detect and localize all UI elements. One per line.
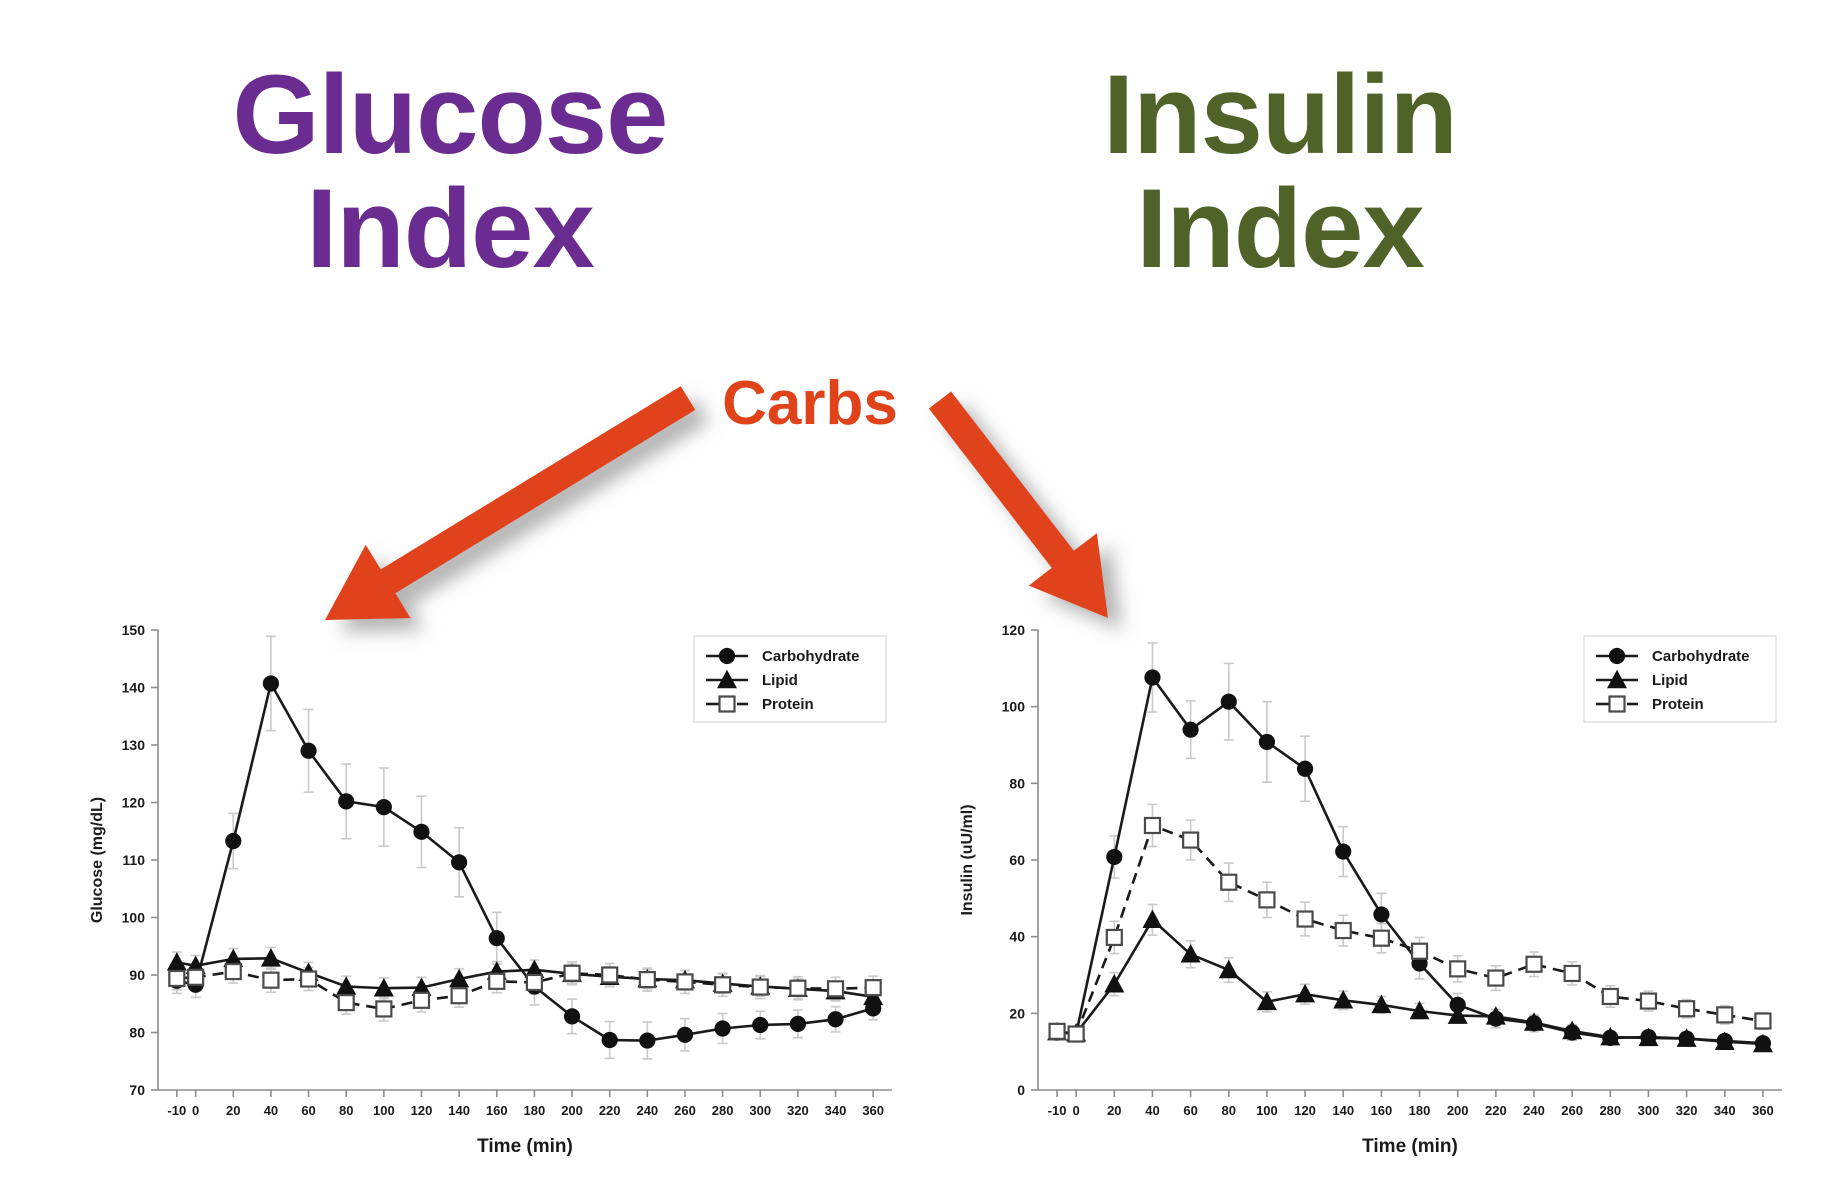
data-point-square [1527,957,1542,972]
data-point-square [226,964,241,979]
x-tick-label: 180 [524,1103,546,1118]
data-point-square [1259,892,1274,907]
data-point-square [1336,923,1351,938]
glucose-chart: 708090100110120130140150Glucose (mg/dL)-… [80,620,910,1180]
y-tick-label: 90 [129,967,145,983]
data-point-square [1641,994,1656,1009]
x-axis-title: Time (min) [1362,1136,1458,1157]
x-tick-label: 200 [561,1103,583,1118]
data-point-square [527,975,542,990]
y-axis-title: Glucose (mg/dL) [89,797,106,923]
carbs-arrow-left [325,386,695,620]
data-point-circle [1610,649,1625,664]
chart-legend: CarbohydrateLipidProtein [1584,636,1776,722]
data-point-square [188,970,203,985]
x-tick-label: 100 [373,1103,395,1118]
x-tick-label: 220 [599,1103,621,1118]
x-tick-label: 20 [226,1103,240,1118]
y-tick-label: 140 [122,680,146,696]
x-tick-label: 40 [1145,1103,1159,1118]
x-tick-label: -10 [1048,1103,1067,1118]
data-point-square [1107,930,1122,945]
data-point-square [1374,931,1389,946]
carbs-arrow-right [929,392,1108,619]
x-tick-label: 300 [1638,1103,1660,1118]
x-tick-label: 60 [1183,1103,1197,1118]
x-tick-label: -10 [167,1103,186,1118]
data-point-square [565,966,580,981]
insulin-chart: 020406080100120Insulin (uU/ml)-100204060… [950,620,1800,1180]
glucose-index-title: Glucose Index [150,58,750,286]
x-tick-label: 260 [674,1103,696,1118]
data-point-circle [1107,849,1122,864]
x-tick-label: 320 [787,1103,809,1118]
data-point-circle [602,1032,617,1047]
glucose-title-line1: Glucose [150,58,750,172]
insulin-chart-svg: 020406080100120Insulin (uU/ml)-100204060… [950,620,1800,1180]
data-point-square [640,972,655,987]
data-point-square [339,995,354,1010]
x-tick-label: 80 [339,1103,353,1118]
slide-canvas: Glucose Index Insulin Index Carbs 708090… [0,0,1822,1198]
y-tick-label: 150 [122,622,146,638]
data-point-triangle [1296,985,1314,1002]
y-tick-label: 70 [129,1082,145,1098]
series-line-carbohydrate [1057,678,1763,1044]
x-tick-label: 260 [1561,1103,1583,1118]
data-point-circle [715,1021,730,1036]
series-line-lipid [1057,920,1763,1044]
x-tick-label: 120 [1294,1103,1316,1118]
y-axis-title: Insulin (uU/ml) [959,804,976,915]
data-point-circle [1374,907,1389,922]
data-point-circle [263,676,278,691]
x-tick-label: 340 [1714,1103,1736,1118]
data-point-square [1679,1001,1694,1016]
data-point-circle [1221,694,1236,709]
y-tick-label: 100 [122,910,146,926]
data-point-circle [640,1033,655,1048]
y-tick-label: 80 [1009,775,1025,791]
data-point-circle [1183,722,1198,737]
data-point-circle [677,1027,692,1042]
data-point-square [1221,875,1236,890]
data-point-circle [1259,734,1274,749]
data-point-square [1603,989,1618,1004]
x-tick-label: 340 [825,1103,847,1118]
data-point-square [1450,961,1465,976]
data-point-circle [1145,670,1160,685]
data-point-square [1145,818,1160,833]
x-tick-label: 240 [1523,1103,1545,1118]
data-point-circle [301,743,316,758]
legend-label: Protein [1652,696,1704,713]
data-point-square [452,988,467,1003]
data-point-circle [414,824,429,839]
x-tick-label: 360 [862,1103,884,1118]
glucose-title-line2: Index [150,172,750,286]
y-tick-label: 40 [1009,929,1025,945]
insulin-title-line2: Index [1020,172,1540,286]
x-tick-label: 140 [448,1103,470,1118]
data-point-square [1488,971,1503,986]
x-tick-label: 80 [1222,1103,1236,1118]
x-tick-label: 360 [1752,1103,1774,1118]
x-tick-label: 160 [486,1103,508,1118]
data-point-triangle [1143,911,1161,928]
carbs-annotation-label: Carbs [700,368,920,439]
x-tick-label: 240 [636,1103,658,1118]
y-tick-label: 120 [1002,622,1026,638]
data-point-circle [790,1016,805,1031]
data-point-square [1565,966,1580,981]
data-point-square [828,981,843,996]
data-point-square [720,697,735,712]
data-point-square [1183,833,1198,848]
legend-label: Carbohydrate [1652,648,1750,665]
data-point-circle [489,931,504,946]
y-tick-label: 110 [122,852,145,868]
x-tick-label: 0 [1073,1103,1080,1118]
data-point-square [1412,944,1427,959]
x-tick-label: 220 [1485,1103,1507,1118]
data-point-circle [1336,844,1351,859]
data-point-square [1755,1014,1770,1029]
data-point-square [1717,1007,1732,1022]
data-point-circle [565,1009,580,1024]
x-tick-label: 100 [1256,1103,1278,1118]
data-point-circle [720,649,735,664]
data-point-square [677,974,692,989]
x-axis-title: Time (min) [477,1136,573,1157]
x-tick-label: 160 [1371,1103,1393,1118]
y-tick-label: 20 [1009,1005,1025,1021]
data-point-square [414,993,429,1008]
data-point-square [790,981,805,996]
data-point-square [376,1001,391,1016]
y-tick-label: 120 [122,795,146,811]
x-tick-label: 280 [1599,1103,1621,1118]
x-tick-label: 40 [264,1103,278,1118]
data-point-triangle [1105,975,1123,992]
x-tick-label: 0 [192,1103,199,1118]
data-point-circle [828,1012,843,1027]
data-point-square [866,980,881,995]
insulin-index-title: Insulin Index [1020,58,1540,286]
x-tick-label: 300 [749,1103,771,1118]
data-point-square [489,974,504,989]
data-point-square [1298,912,1313,927]
legend-label: Carbohydrate [762,648,860,665]
x-tick-label: 60 [301,1103,315,1118]
x-tick-label: 180 [1409,1103,1431,1118]
y-tick-label: 130 [122,737,146,753]
data-point-square [169,971,184,986]
x-tick-label: 140 [1332,1103,1354,1118]
data-point-triangle [1220,961,1238,978]
x-tick-label: 320 [1676,1103,1698,1118]
data-point-square [1069,1027,1084,1042]
data-point-square [602,968,617,983]
y-tick-label: 80 [129,1025,145,1041]
data-point-triangle [168,953,186,970]
chart-legend: CarbohydrateLipidProtein [694,636,886,722]
data-point-circle [753,1018,768,1033]
data-point-circle [376,800,391,815]
y-tick-label: 0 [1017,1082,1025,1098]
x-tick-label: 280 [712,1103,734,1118]
legend-label: Lipid [762,672,798,689]
y-tick-label: 60 [1009,852,1025,868]
data-point-square [1610,697,1625,712]
x-tick-label: 200 [1447,1103,1469,1118]
legend-label: Protein [762,696,814,713]
insulin-title-line1: Insulin [1020,58,1540,172]
data-point-square [715,977,730,992]
legend-label: Lipid [1652,672,1688,689]
data-point-circle [226,834,241,849]
data-point-circle [452,855,467,870]
glucose-chart-svg: 708090100110120130140150Glucose (mg/dL)-… [80,620,910,1180]
data-point-square [753,980,768,995]
data-point-square [263,973,278,988]
data-point-circle [1298,761,1313,776]
data-point-circle [339,794,354,809]
y-tick-label: 100 [1002,699,1026,715]
data-point-square [301,972,316,987]
x-tick-label: 20 [1107,1103,1121,1118]
x-tick-label: 120 [411,1103,433,1118]
data-point-square [1050,1024,1065,1039]
